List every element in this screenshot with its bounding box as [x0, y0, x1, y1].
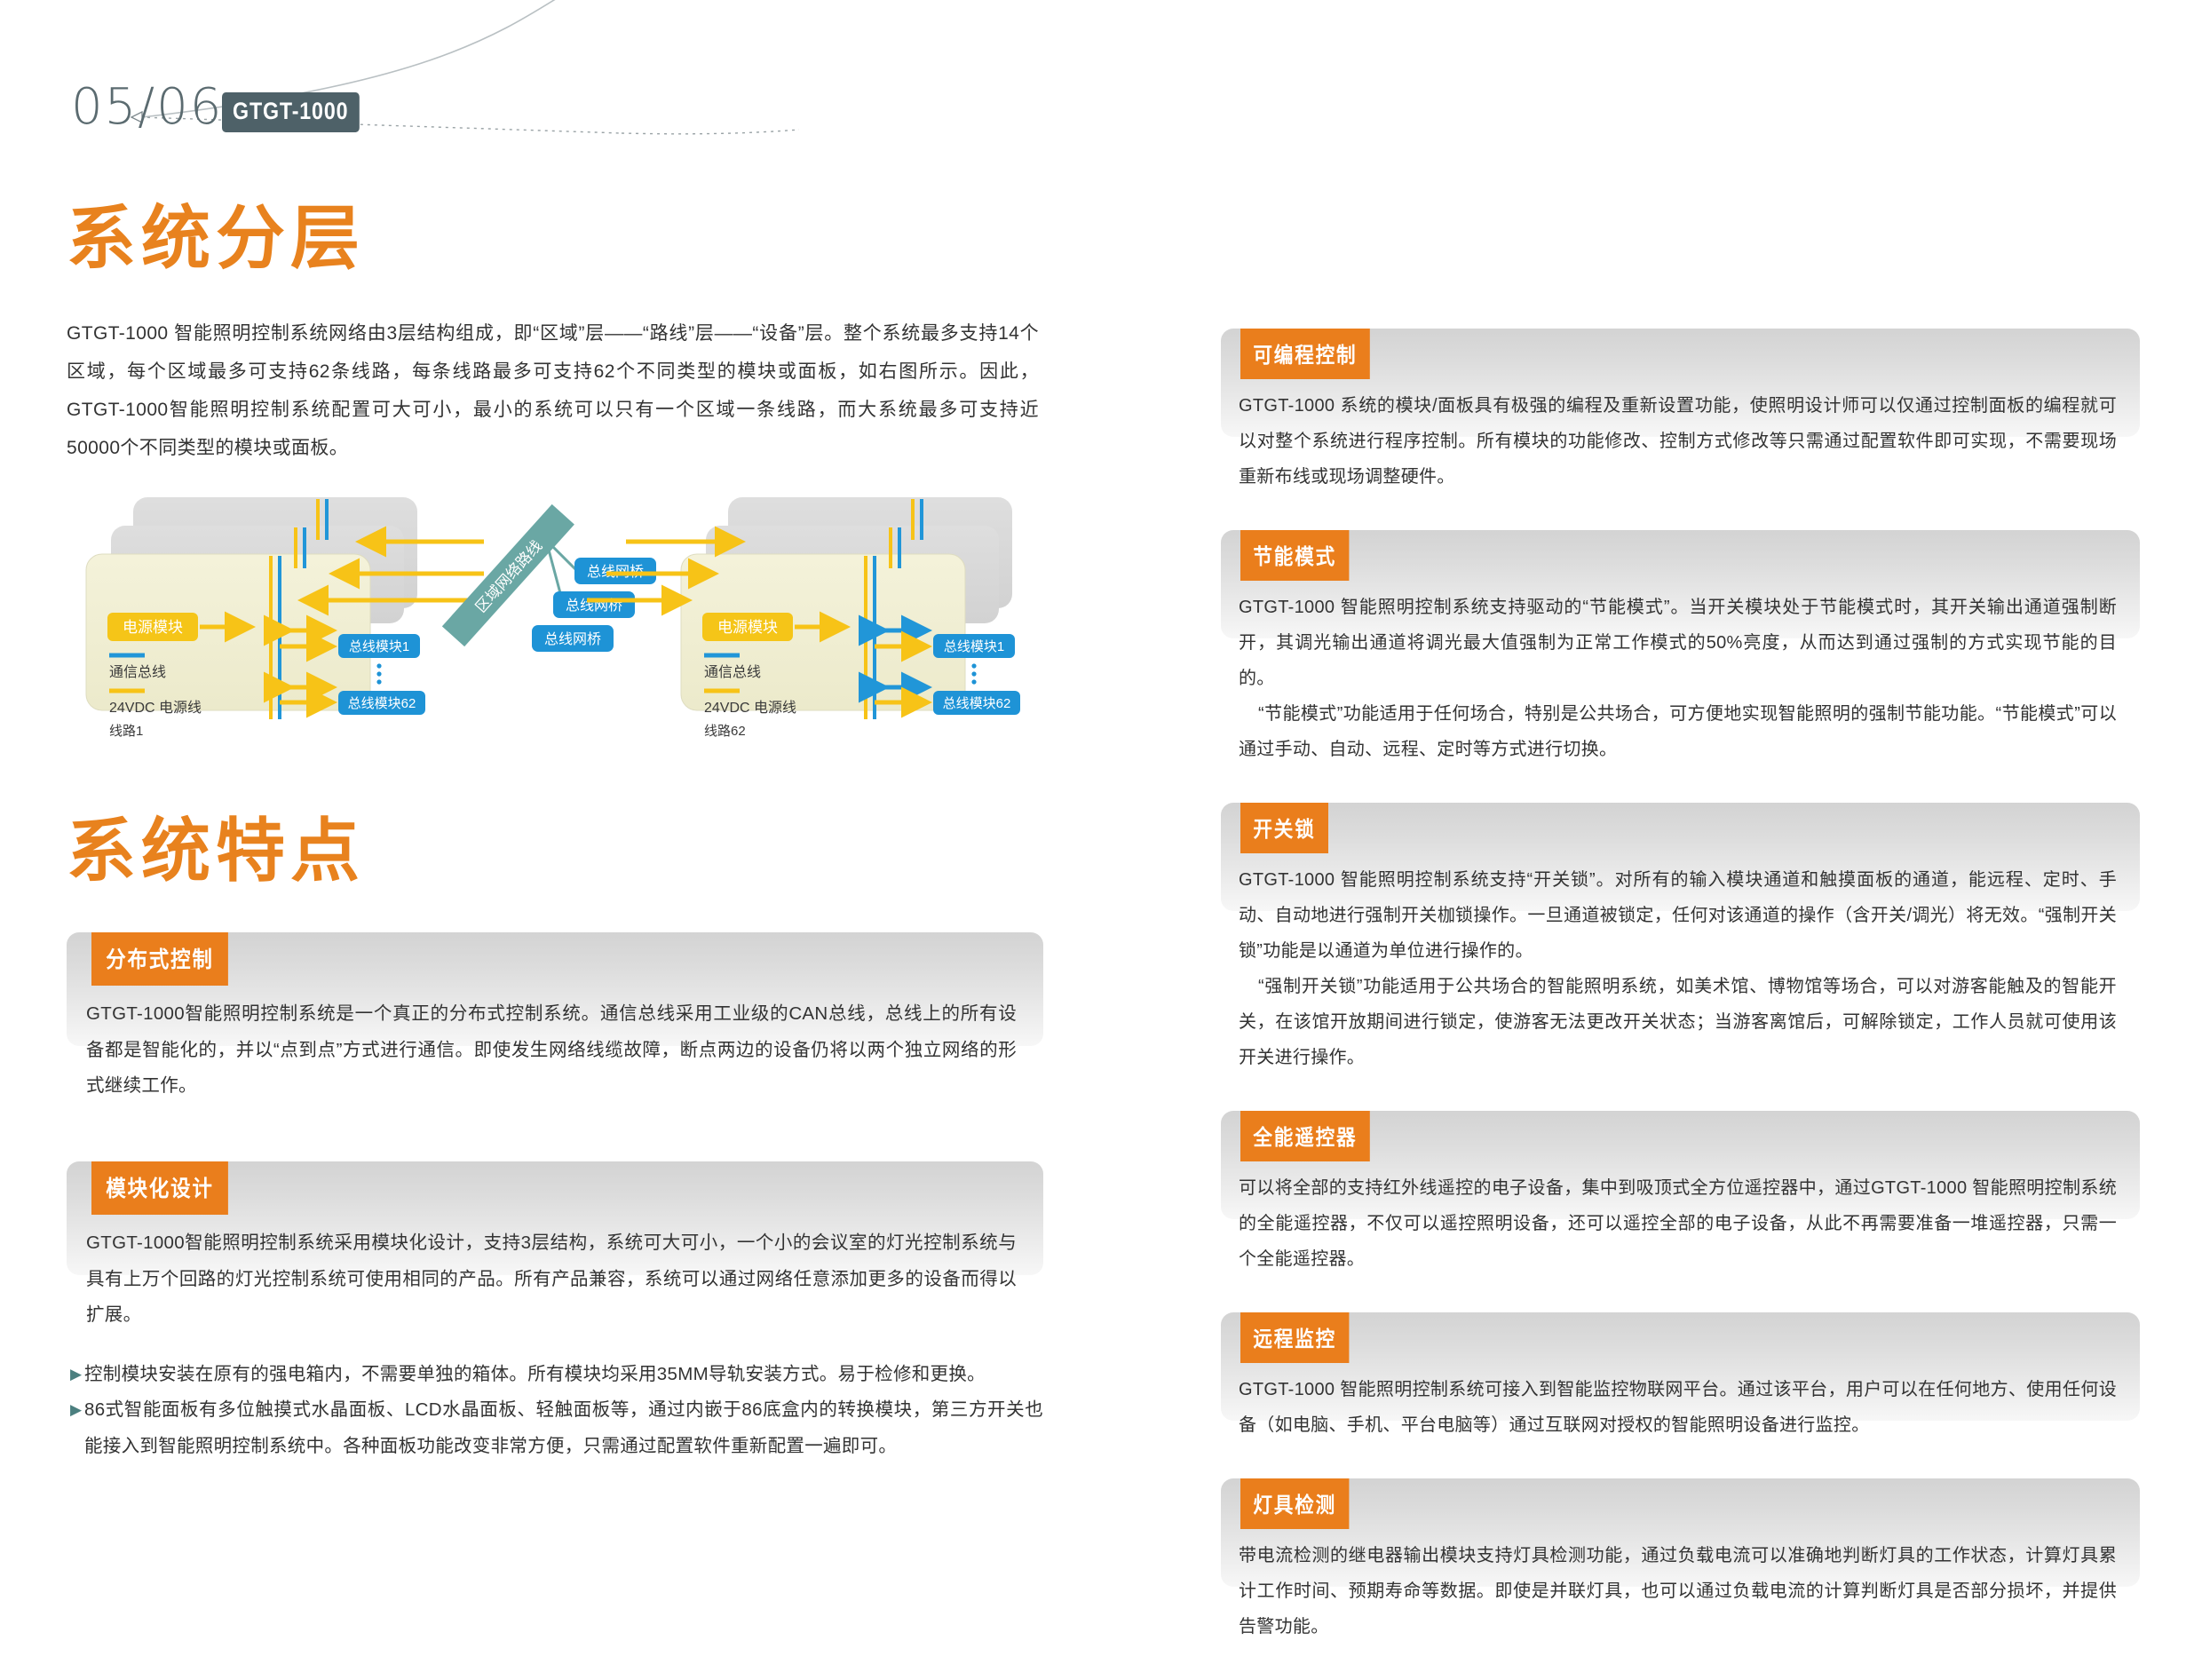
card-tag-programmable-control: 可编程控制	[1240, 329, 1370, 379]
left-column: 系统分层 GTGT-1000 智能照明控制系统网络由3层结构组成，即“区域”层—…	[67, 204, 1043, 1494]
feature-card-universal-remote: 全能遥控器 可以将全部的支持红外线遥控的电子设备，集中到吸顶式全方位遥控器中，通…	[1221, 1111, 2140, 1282]
section-title-system-features: 系统特点	[67, 817, 1043, 886]
bus-module-last-left: 总线模块62	[348, 696, 416, 711]
triangle-bullet-icon: ▶	[70, 1392, 84, 1464]
list-item: ▶ 86式智能面板有多位触摸式水晶面板、LCD水晶面板、轻触面板等，通过内嵌于8…	[70, 1392, 1043, 1464]
legend-power-line-left: 24VDC 电源线	[109, 700, 202, 716]
card-tag-universal-remote: 全能遥控器	[1240, 1111, 1370, 1161]
feature-bullet-list: ▶ 控制模块安装在原有的强电箱内，不需要单独的箱体。所有模块均采用35MM导轨安…	[67, 1357, 1043, 1465]
line-label-left: 线路1	[109, 724, 143, 739]
section-title-system-layering: 系统分层	[67, 204, 1043, 273]
card-paragraph: “节能模式”功能适用于任何场合，特别是公共场合，可方便地实现智能照明的强制节能功…	[1239, 696, 2117, 767]
card-paragraph: GTGT-1000 智能照明控制系统支持“开关锁”。对所有的输入模块通道和触摸面…	[1239, 862, 2117, 969]
card-tag-remote-monitoring: 远程监控	[1240, 1312, 1349, 1363]
line-label-right: 线路62	[704, 724, 746, 739]
card-body-modular-design: GTGT-1000智能照明控制系统采用模块化设计，支持3层结构，系统可大可小，一…	[67, 1215, 1043, 1339]
legend-power-line-right: 24VDC 电源线	[704, 700, 796, 716]
svg-text:区域网络路线: 区域网络路线	[472, 537, 545, 616]
card-body-energy-saving-mode: GTGT-1000 智能照明控制系统支持驱动的“节能模式”。当开关模块处于节能模…	[1221, 581, 2140, 773]
card-body-distributed-control: GTGT-1000智能照明控制系统是一个真正的分布式控制系统。通信总线采用工业级…	[67, 986, 1043, 1110]
feature-card-remote-monitoring: 远程监控 GTGT-1000 智能照明控制系统可接入到智能监控物联网平台。通过该…	[1221, 1312, 2140, 1448]
bus-bridge-3: 总线网桥	[544, 631, 601, 647]
card-paragraph: 可以将全部的支持红外线遥控的电子设备，集中到吸顶式全方位遥控器中，通过GTGT-…	[1239, 1170, 2117, 1277]
feature-card-switch-lock: 开关锁 GTGT-1000 智能照明控制系统支持“开关锁”。对所有的输入模块通道…	[1221, 803, 2140, 1081]
legend-comm-bus-left: 通信总线	[109, 664, 166, 680]
feature-card-energy-saving-mode: 节能模式 GTGT-1000 智能照明控制系统支持驱动的“节能模式”。当开关模块…	[1221, 530, 2140, 773]
card-body-remote-monitoring: GTGT-1000 智能照明控制系统可接入到智能监控物联网平台。通过该平台，用户…	[1221, 1363, 2140, 1448]
power-module-label-right: 电源模块	[717, 619, 778, 636]
model-badge: GTGT-1000	[222, 92, 359, 132]
page-number: 05/06	[71, 78, 223, 136]
card-paragraph: 带电流检测的继电器输出模块支持灯具检测功能，通过负载电流可以准确地判断灯具的工作…	[1239, 1538, 2117, 1644]
card-body-programmable-control: GTGT-1000 系统的模块/面板具有极强的编程及重新设置功能，使照明设计师可…	[1221, 379, 2140, 500]
card-tag-switch-lock: 开关锁	[1240, 803, 1328, 853]
feature-card-programmable-control: 可编程控制 GTGT-1000 系统的模块/面板具有极强的编程及重新设置功能，使…	[1221, 329, 2140, 500]
card-paragraph: GTGT-1000智能照明控制系统是一个真正的分布式控制系统。通信总线采用工业级…	[86, 996, 1017, 1105]
card-tag-luminaire-detection: 灯具检测	[1240, 1478, 1349, 1529]
feature-card-modular-design: 模块化设计 GTGT-1000智能照明控制系统采用模块化设计，支持3层结构，系统…	[67, 1161, 1043, 1464]
bullet-text: 控制模块安装在原有的强电箱内，不需要单独的箱体。所有模块均采用35MM导轨安装方…	[84, 1357, 1043, 1393]
diagram-svg: 电源模块 通信总线 24VDC 电源线 线路1 总线模块1 总线模块62	[67, 487, 1043, 780]
card-paragraph: GTGT-1000 智能照明控制系统可接入到智能监控物联网平台。通过该平台，用户…	[1239, 1372, 2117, 1443]
card-paragraph: GTGT-1000智能照明控制系统采用模块化设计，支持3层结构，系统可大可小，一…	[86, 1225, 1017, 1334]
intro-paragraph: GTGT-1000 智能照明控制系统网络由3层结构组成，即“区域”层——“路线”…	[67, 314, 1039, 467]
triangle-bullet-icon: ▶	[70, 1357, 84, 1393]
card-tag-distributed-control: 分布式控制	[91, 932, 228, 986]
card-paragraph: GTGT-1000 智能照明控制系统支持驱动的“节能模式”。当开关模块处于节能模…	[1239, 590, 2117, 696]
card-tag-modular-design: 模块化设计	[91, 1161, 228, 1215]
system-layering-diagram: 电源模块 通信总线 24VDC 电源线 线路1 总线模块1 总线模块62	[67, 487, 1043, 780]
legend-comm-bus-right: 通信总线	[704, 664, 761, 680]
feature-card-luminaire-detection: 灯具检测 带电流检测的继电器输出模块支持灯具检测功能，通过负载电流可以准确地判断…	[1221, 1478, 2140, 1650]
list-item: ▶ 控制模块安装在原有的强电箱内，不需要单独的箱体。所有模块均采用35MM导轨安…	[70, 1357, 1043, 1393]
bullet-text: 86式智能面板有多位触摸式水晶面板、LCD水晶面板、轻触面板等，通过内嵌于86底…	[84, 1392, 1043, 1464]
card-body-luminaire-detection: 带电流检测的继电器输出模块支持灯具检测功能，通过负载电流可以准确地判断灯具的工作…	[1221, 1529, 2140, 1650]
feature-card-distributed-control: 分布式控制 GTGT-1000智能照明控制系统是一个真正的分布式控制系统。通信总…	[67, 932, 1043, 1110]
card-tag-energy-saving-mode: 节能模式	[1240, 530, 1349, 581]
bus-module-first-left: 总线模块1	[349, 639, 409, 654]
card-body-switch-lock: GTGT-1000 智能照明控制系统支持“开关锁”。对所有的输入模块通道和触摸面…	[1221, 853, 2140, 1081]
power-module-label-left: 电源模块	[123, 619, 183, 636]
bus-module-first-right: 总线模块1	[944, 639, 1004, 654]
card-paragraph: “强制开关锁”功能适用于公共场合的智能照明系统，如美术馆、博物馆等场合，可以对游…	[1239, 969, 2117, 1075]
page-header: 05/06 GTGT-1000	[0, 0, 2202, 178]
card-paragraph: GTGT-1000 系统的模块/面板具有极强的编程及重新设置功能，使照明设计师可…	[1239, 388, 2117, 495]
right-column: 可编程控制 GTGT-1000 系统的模块/面板具有极强的编程及重新设置功能，使…	[1221, 329, 2140, 1680]
card-body-universal-remote: 可以将全部的支持红外线遥控的电子设备，集中到吸顶式全方位遥控器中，通过GTGT-…	[1221, 1161, 2140, 1282]
bus-module-last-right: 总线模块62	[943, 696, 1011, 711]
